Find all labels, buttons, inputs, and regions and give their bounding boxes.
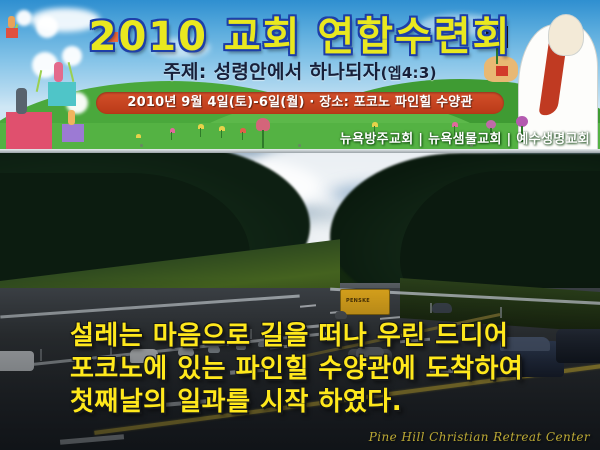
flower-stem xyxy=(171,132,172,140)
flower-stem xyxy=(242,132,243,140)
banner-grommet xyxy=(140,144,143,147)
banner-grommet xyxy=(298,144,301,147)
watermark: Pine Hill Christian Retreat Center xyxy=(369,430,590,444)
heart-icon xyxy=(48,82,76,106)
caption-overlay: 설레는 마음으로 길을 떠나 우린 드디어 포코노에 있는 파인힐 수양관에 도… xyxy=(70,320,590,419)
caption-line-2: 포코노에 있는 파인힐 수양관에 도착하여 xyxy=(70,353,590,386)
heart-icon xyxy=(62,124,84,142)
car-oncoming xyxy=(0,351,34,371)
banner-details-text: 2010년 9월 4일(토)-6일(월) · 장소: 포코노 파인힐 수양관 xyxy=(96,92,504,114)
figure-icon xyxy=(68,110,75,125)
flower-icon xyxy=(372,122,378,127)
car xyxy=(335,311,347,319)
flower-icon xyxy=(219,126,225,131)
flower-icon xyxy=(452,122,458,127)
guardrail-post xyxy=(500,307,502,318)
banner-subtitle: 주제: 성령안에서 하나되자(엡4:3) xyxy=(0,57,600,84)
banner-church-names: 뉴욕방주교회 | 뉴욕샘물교회 | 예수생명교회 xyxy=(340,128,590,147)
banner-title: 2010 교회 연합수련회 xyxy=(0,4,600,62)
banner-subtitle-label: 주제: xyxy=(163,61,206,83)
caption-line-3: 첫째날의 일과를 시작 하였다. xyxy=(70,386,590,419)
screenshot-root: PENSKE 설레는 마음으로 길을 떠나 우린 드디어 포코노에 있는 파인힐… xyxy=(0,0,600,450)
flower-icon xyxy=(198,124,204,129)
figure-icon xyxy=(16,88,27,114)
box-truck: PENSKE xyxy=(340,289,390,315)
banner-subtitle-theme: 성령안에서 하나되자 xyxy=(214,61,381,83)
flower-stem xyxy=(200,128,201,137)
flower-icon xyxy=(240,128,246,133)
car xyxy=(432,303,452,313)
heart-icon xyxy=(6,112,52,150)
banner-subtitle-reference: (엡4:3) xyxy=(381,64,437,82)
flower-stem xyxy=(262,130,264,148)
banner-grommet xyxy=(470,144,473,147)
flower-stem xyxy=(221,130,222,138)
banner-bottom-edge xyxy=(0,149,600,153)
event-banner: 2010 교회 연합수련회 주제: 성령안에서 하나되자(엡4:3) 2010년… xyxy=(0,0,600,153)
guardrail-post xyxy=(40,349,42,361)
flower-icon xyxy=(136,134,141,138)
caption-line-1: 설레는 마음으로 길을 떠나 우린 드디어 xyxy=(70,320,590,353)
banner-details-pill: 2010년 9월 4일(토)-6일(월) · 장소: 포코노 파인힐 수양관 xyxy=(96,92,504,114)
